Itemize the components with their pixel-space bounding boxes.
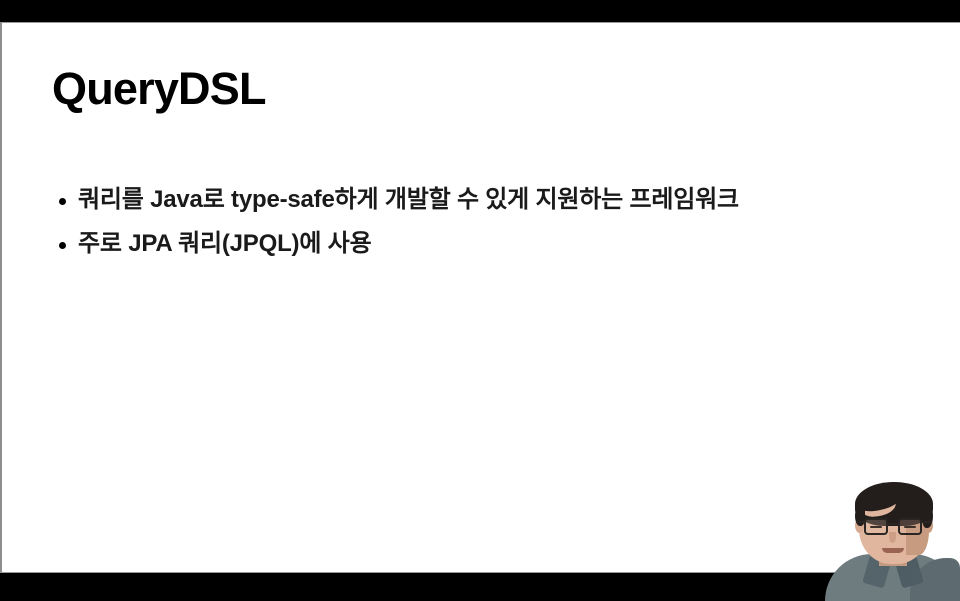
presenter-sideburn-right [922, 504, 933, 528]
glasses-bridge-icon [888, 523, 898, 525]
slide-title: QueryDSL [52, 65, 266, 112]
letterbox-bar-bottom [0, 573, 960, 601]
presenter-avatar [822, 470, 960, 601]
letterbox-bar-top [0, 0, 960, 22]
slide-bullet-text: 쿼리를 Java로 type-safe하게 개발할 수 있게 지원하는 프레임워… [78, 186, 739, 213]
presenter-eye-right [904, 526, 916, 528]
presenter-mouth [882, 548, 904, 553]
presenter-video-overlay [822, 470, 960, 601]
presenter-nose [889, 532, 896, 543]
bullet-dot-icon [59, 242, 66, 249]
slide-bullet-list: 쿼리를 Java로 type-safe하게 개발할 수 있게 지원하는 프레임워… [54, 188, 854, 256]
slide-bullet-item: 주로 JPA 쿼리(JPQL)에 사용 [54, 232, 854, 256]
presenter-eye-left [870, 526, 882, 528]
glasses-temple-right-icon [921, 521, 931, 523]
video-player-screen: QueryDSL 쿼리를 Java로 type-safe하게 개발할 수 있게 … [0, 0, 960, 601]
slide-bullet-item: 쿼리를 Java로 type-safe하게 개발할 수 있게 지원하는 프레임워… [54, 188, 854, 212]
presentation-slide: QueryDSL 쿼리를 Java로 type-safe하게 개발할 수 있게 … [0, 22, 960, 573]
bullet-dot-icon [59, 198, 66, 205]
glasses-temple-left-icon [856, 521, 865, 523]
slide-bullet-text: 주로 JPA 쿼리(JPQL)에 사용 [78, 230, 371, 257]
